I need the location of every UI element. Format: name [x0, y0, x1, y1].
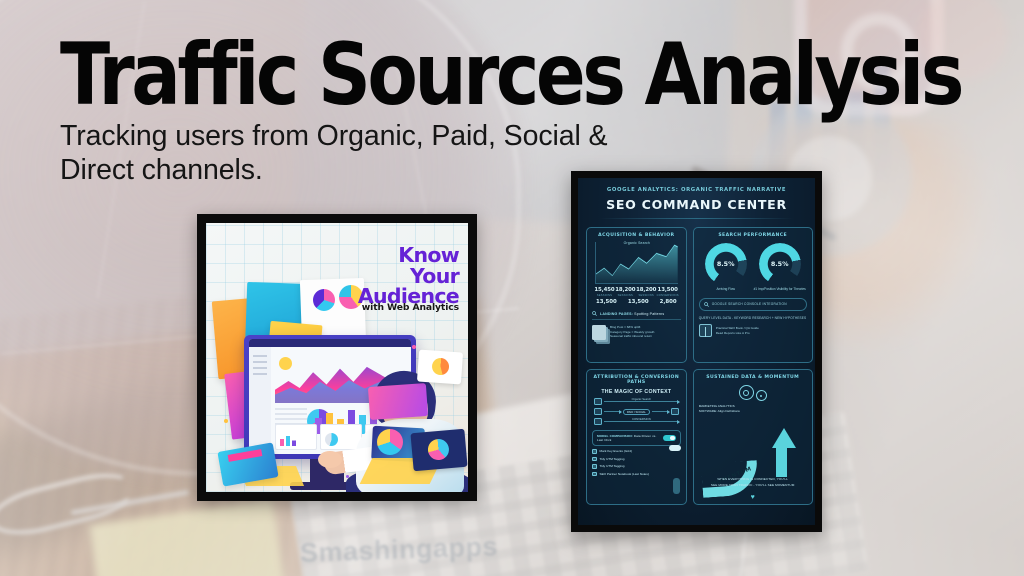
- donut-icon-orange: [431, 357, 449, 375]
- closing-line-2: SEE MORE THAN TRAFFIC - YOU'LL SEE MOMEN…: [699, 483, 807, 488]
- sidebar-line-1: [253, 355, 267, 357]
- checkbox-icon[interactable]: [592, 472, 597, 477]
- page-subtitle: Tracking users from Organic, Paid, Socia…: [60, 120, 650, 186]
- flow-node-icon: [594, 418, 602, 425]
- gauge-labels: Arriving Flow #1 Imp/Position Visibility…: [699, 286, 807, 292]
- poster-title: SEO COMMAND CENTER: [586, 197, 807, 212]
- mini-bar-chart: [280, 434, 308, 446]
- poster-quadrants: ACQUISITION & BEHAVIOR Organic Search 15…: [586, 227, 807, 505]
- sun-icon: [279, 357, 292, 370]
- flow-pill: PAID / SOCIAL: [623, 409, 650, 415]
- stat-value: 18,200: [636, 287, 657, 293]
- chart-label: Organic Search: [624, 241, 650, 245]
- floating-card-magenta: [368, 383, 428, 420]
- poster-divider: [600, 218, 793, 219]
- software-labels: MARKETING ANALYTICS SOFTWARE: Align Defi…: [699, 404, 807, 413]
- dashboard-card-2: [320, 424, 362, 450]
- checklist-label: Tidy UTM Tagging: [600, 464, 625, 468]
- attribution-flow: Organic Search PAID / SOCIAL CONVERSION: [594, 398, 679, 425]
- gauge-row: 8.5% 8.5%: [699, 243, 807, 285]
- sidebar-line-2: [253, 361, 267, 363]
- pie-chart-icon-1: [313, 289, 335, 311]
- pill-text: GOOGLE SEARCH CONSOLE INTEGRATION: [712, 302, 787, 306]
- toggle-label: MODEL COMPARISON: Data Driven vs. Last C…: [597, 434, 659, 442]
- gauge-caption: Arriving Flow: [699, 287, 753, 292]
- search-text: LANDING PAGES: Spotting Patterns: [600, 312, 664, 316]
- flow-connector: [604, 411, 621, 412]
- gear-group: [699, 385, 807, 401]
- gauge-2: 8.5%: [759, 243, 801, 285]
- doc-lines: Blog Post = 68% uplift Category Page = W…: [610, 325, 654, 339]
- stat-item: 15,450 SESSIONS: [594, 287, 615, 297]
- person-hand: [318, 451, 342, 468]
- flow-row-2: PAID / SOCIAL: [594, 408, 679, 415]
- flow-connector: CONVERSION: [604, 421, 679, 422]
- seo-infographic: GOOGLE ANALYTICS: ORGANIC TRAFFIC NARRAT…: [578, 178, 815, 525]
- stat-item: 18,200 SESSIONS: [636, 287, 657, 297]
- audience-illustration-frame: Know Your Audience with Web Analytics: [197, 214, 477, 501]
- search-label-bold: LANDING PAGES:: [600, 312, 633, 316]
- flow-connector: Organic Search: [604, 401, 679, 402]
- page-title: Traffic Sources Analysis: [60, 38, 847, 113]
- software-label-2: SOFTWARE: Align Definitions: [699, 409, 807, 414]
- closing-note: WHEN EVERYTHING IS CONNECTED, YOU'LL SEE…: [699, 475, 807, 488]
- stat-value: 2,800: [660, 299, 677, 305]
- gear-icon: [739, 385, 754, 400]
- momentum-arrow-head: [772, 428, 796, 448]
- quadrant-2-title: SEARCH PERFORMANCE: [699, 233, 807, 238]
- mini-donut-1: [325, 433, 338, 446]
- checkbox-icon[interactable]: [592, 457, 597, 462]
- momentum-arrow-stem: [776, 447, 787, 477]
- checklist-label: Mark Key Events (GA4): [600, 449, 633, 453]
- illustration-subheading: with Web Analytics: [362, 302, 459, 313]
- organic-search-chart: Organic Search: [595, 242, 678, 284]
- doc-row: Blog Post = 68% uplift Category Page = W…: [592, 325, 681, 340]
- model-comparison-toggle[interactable]: MODEL COMPARISON: Data Driven vs. Last C…: [592, 430, 681, 446]
- flow-label: CONVERSION: [632, 417, 651, 421]
- flow-node-icon: [594, 398, 602, 405]
- donut-icon-multi: [427, 438, 450, 461]
- dot-1: [224, 419, 228, 423]
- quadrant-attribution: ATTRIBUTION & CONVERSION PATHS THE MAGIC…: [586, 369, 687, 505]
- blue-pill-accent: [673, 478, 680, 494]
- quadrant-search-performance: SEARCH PERFORMANCE 8.5% 8.5% Arriving Fl…: [693, 227, 813, 363]
- poster-kicker: GOOGLE ANALYTICS: ORGANIC TRAFFIC NARRAT…: [586, 187, 807, 193]
- gauge-caption: #1 Imp/Position Visibility for Theories: [753, 287, 807, 292]
- audience-illustration: Know Your Audience with Web Analytics: [206, 223, 468, 492]
- toggle-switch[interactable]: [663, 435, 676, 442]
- heart-icon: ♥: [751, 494, 755, 501]
- headline-block: Traffic Sources Analysis Tracking users …: [60, 38, 820, 187]
- search-icon: [704, 302, 709, 307]
- checkbox-icon[interactable]: [592, 464, 597, 469]
- quadrant-4-title: SUSTAINED DATA & MOMENTUM: [699, 375, 807, 380]
- closing-line-1: WHEN EVERYTHING IS CONNECTED, YOU'LL: [699, 477, 807, 482]
- quadrant-3-subtitle: THE MAGIC OF CONTEXT: [592, 389, 681, 395]
- subtitle-line-1: Tracking users from Organic, Paid, Socia…: [60, 120, 607, 152]
- stat-value: 18,200: [615, 287, 636, 293]
- dot-3: [346, 475, 349, 478]
- landing-pages-search[interactable]: LANDING PAGES: Spotting Patterns: [592, 311, 681, 320]
- search-icon: [592, 311, 597, 316]
- floating-donut-icon: [377, 429, 403, 455]
- sidebar-line-3: [253, 367, 267, 369]
- stat-item: 18,200 SESSIONS: [615, 287, 636, 297]
- flow-node-icon: [671, 408, 679, 415]
- seo-infographic-frame: GOOGLE ANALYTICS: ORGANIC TRAFFIC NARRAT…: [571, 171, 822, 532]
- checklist-item[interactable]: Tidy UTM Tagging: [592, 464, 681, 469]
- flow-connector: [652, 411, 669, 412]
- gear-icon-small: [756, 390, 767, 401]
- stats-row-1: 15,450 SESSIONS 18,200 SESSIONS 18,200 S…: [592, 287, 681, 297]
- dot-2: [412, 345, 416, 349]
- stat-label: SESSIONS: [615, 294, 636, 297]
- checklist-label: SEO Partner Notebook (Last Notes): [600, 472, 649, 476]
- stat-value: 15,450: [594, 287, 615, 293]
- stats-row-2: 13,500 13,500 2,800: [592, 299, 681, 305]
- screen-sidebar: [249, 347, 271, 454]
- flow-row-3: CONVERSION: [594, 418, 679, 425]
- book-line: Read Reports Like A Pro: [716, 331, 759, 336]
- quadrant-momentum: SUSTAINED DATA & MOMENTUM MARKETING ANAL…: [693, 369, 813, 505]
- search-label: Spotting Patterns: [634, 312, 664, 316]
- dashboard-card-1: [275, 424, 317, 450]
- subtitle-line-2: Direct channels.: [60, 154, 650, 187]
- floating-card-bottom-right: [410, 429, 467, 472]
- chart-area-fill: [596, 242, 678, 283]
- secondary-toggle[interactable]: [669, 445, 681, 451]
- checklist-item[interactable]: SEO Partner Notebook (Last Notes): [592, 472, 681, 477]
- floating-card-top-right: [417, 350, 463, 385]
- flow-node-icon: [594, 408, 602, 415]
- checklist-label: Tidy UTM Tagging: [600, 457, 625, 461]
- book-row: Practical SEO Book / QA Guide Read Repor…: [699, 324, 807, 337]
- stat-label: SESSIONS: [636, 294, 657, 297]
- book-icon: [699, 324, 712, 337]
- flow-label: Organic Search: [632, 397, 651, 401]
- query-note: QUERY LEVEL DATA - KEYWORD RESEARCH + NE…: [699, 316, 807, 321]
- documents-icon: [592, 325, 606, 340]
- gauge-value: 8.5%: [759, 243, 801, 285]
- quadrant-1-title: ACQUISITION & BEHAVIOR: [592, 233, 681, 238]
- stat-label: CONVERSIONS: [657, 294, 679, 297]
- quadrant-acquisition: ACQUISITION & BEHAVIOR Organic Search 15…: [586, 227, 687, 363]
- stat-value: 13,500: [657, 287, 679, 293]
- illustration-heading: Know Your Audience: [358, 245, 459, 307]
- gauge-1: 8.5%: [705, 243, 747, 285]
- checkbox-icon[interactable]: [592, 449, 597, 454]
- book-lines: Practical SEO Book / QA Guide Read Repor…: [716, 326, 759, 335]
- quadrant-3-title: ATTRIBUTION & CONVERSION PATHS: [592, 375, 681, 385]
- screen-titlebar: [249, 339, 411, 347]
- flow-row-1: Organic Search: [594, 398, 679, 405]
- search-console-pill[interactable]: GOOGLE SEARCH CONSOLE INTEGRATION: [699, 298, 807, 311]
- doc-line: Seasonal traffic inbound return: [610, 334, 654, 339]
- checklist-item[interactable]: Mark Key Events (GA4): [592, 449, 681, 454]
- gauge-value: 8.5%: [705, 243, 747, 285]
- stat-value: 13,500: [628, 299, 649, 305]
- stat-item: 13,500 CONVERSIONS: [657, 287, 679, 297]
- stat-value: 13,500: [596, 299, 617, 305]
- checklist-item[interactable]: Tidy UTM Tagging: [592, 457, 681, 462]
- stat-label: SESSIONS: [594, 294, 615, 297]
- sidebar-line-4: [253, 373, 267, 375]
